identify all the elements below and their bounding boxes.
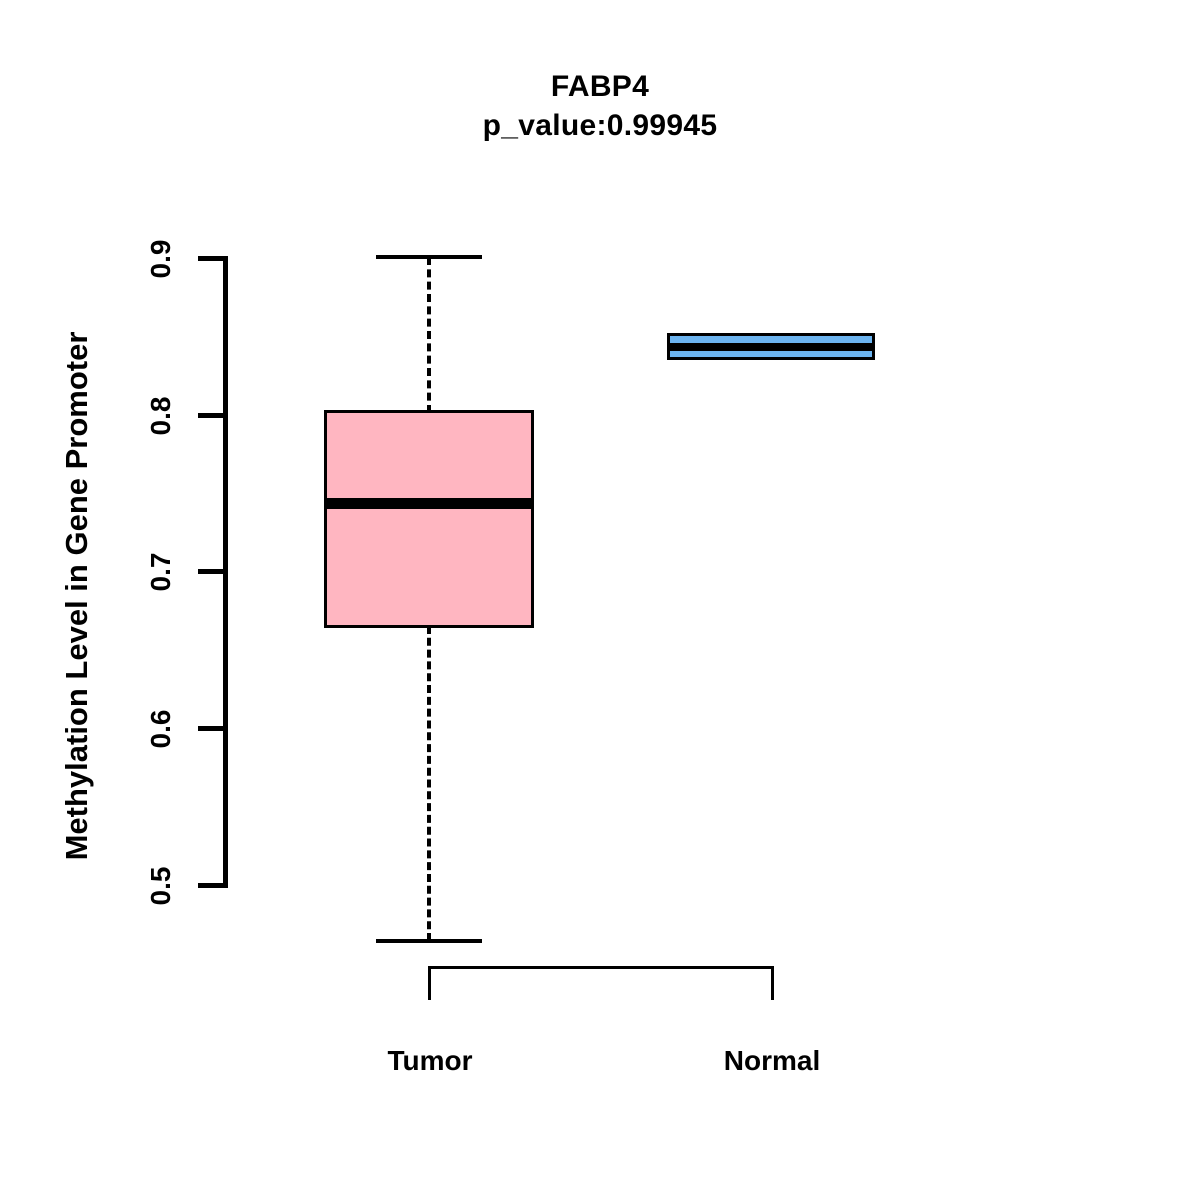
normal-median-line (667, 343, 875, 351)
x-axis-bracket-line (428, 966, 774, 969)
tumor-whisker-upper (427, 257, 431, 413)
tumor-whisker-lower (427, 626, 431, 941)
y-tick-label-0.6: 0.6 (145, 689, 175, 769)
y-tick-label-0.9: 0.9 (145, 219, 175, 299)
boxplot-figure: FABP4 p_value:0.99945 Methylation Level … (0, 0, 1200, 1200)
y-axis-label: Methylation Level in Gene Promoter (59, 196, 95, 996)
y-axis-tick-0.9 (198, 256, 225, 261)
chart-title: FABP4 (0, 68, 1200, 106)
chart-subtitle-pvalue: p_value:0.99945 (0, 106, 1200, 146)
x-axis-bracket-tick-normal (771, 966, 774, 1000)
y-axis-tick-0.7 (198, 569, 225, 574)
x-tick-label-normal: Normal (672, 1045, 872, 1077)
tumor-whisker-cap-lower (376, 939, 482, 943)
tumor-median-line (324, 498, 534, 509)
chart-title-block: FABP4 p_value:0.99945 (0, 68, 1200, 146)
y-tick-label-0.7: 0.7 (145, 532, 175, 612)
tumor-whisker-cap-upper (376, 255, 482, 259)
x-axis-bracket-tick-tumor (428, 966, 431, 1000)
y-axis-tick-0.8 (198, 413, 225, 418)
y-axis-tick-0.6 (198, 726, 225, 731)
x-tick-label-tumor: Tumor (330, 1045, 530, 1077)
y-tick-label-0.8: 0.8 (145, 376, 175, 456)
y-axis-tick-0.5 (198, 883, 225, 888)
y-tick-label-0.5: 0.5 (145, 846, 175, 926)
tumor-box (324, 410, 534, 628)
